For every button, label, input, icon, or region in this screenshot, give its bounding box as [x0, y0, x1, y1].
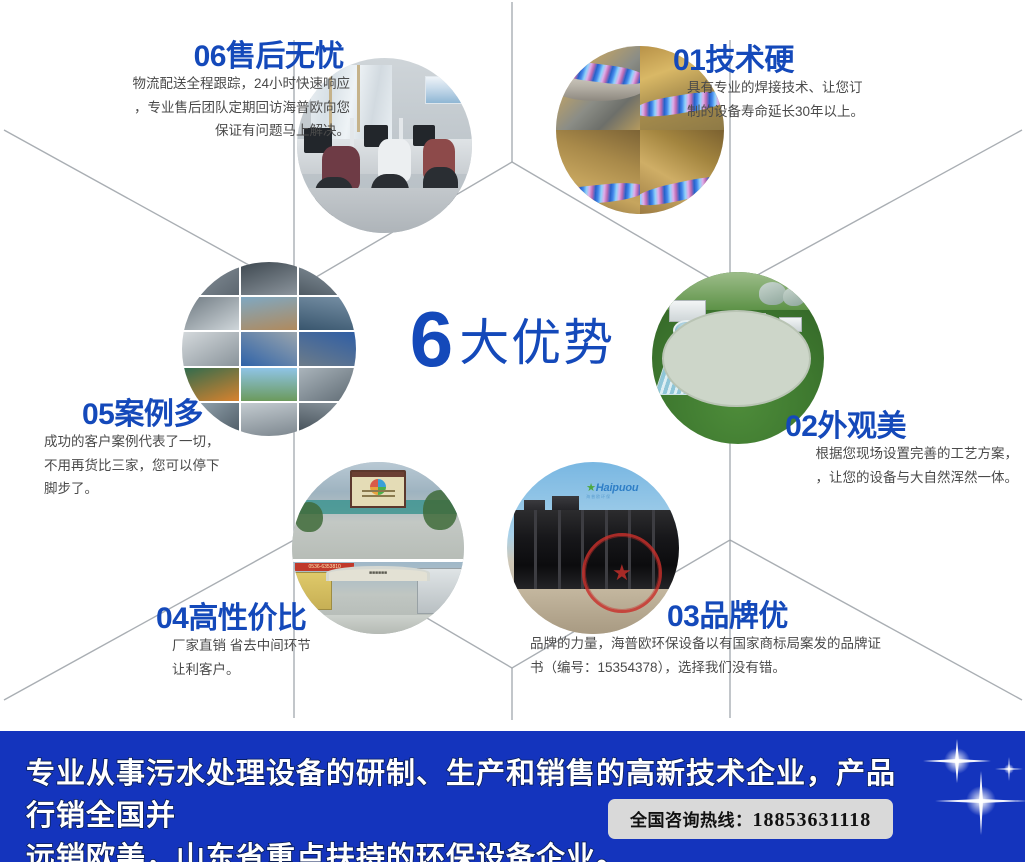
feature-02-body: 根据您现场设置完善的工艺方案， ，让您的设备与大自然浑然一体。 — [700, 442, 1018, 489]
feature-01-title: 01技术硬 — [673, 46, 1013, 76]
feature-05-title: 05案例多 — [82, 400, 330, 430]
feature-05-body: 成功的客户案例代表了一切， 不用再货比三家，您可以停下 脚步了。 — [44, 430, 330, 501]
feature-05: 05案例多 成功的客户案例代表了一切， 不用再货比三家，您可以停下 脚步了。 — [30, 400, 330, 501]
bottom-banner: 专业从事污水处理设备的研制、生产和销售的高新技术企业，产品行销全国并 远销欧美，… — [0, 731, 1025, 862]
feature-02: 02外观美 根据您现场设置完善的工艺方案， ，让您的设备与大自然浑然一体。 — [700, 412, 1018, 489]
feature-01-body: 具有专业的焊接技术、让您订 制的设备寿命延长30年以上。 — [687, 76, 1013, 123]
feature-01: 01技术硬 具有专业的焊接技术、让您订 制的设备寿命延长30年以上。 — [673, 46, 1013, 123]
feature-03: 03品牌优 品牌的力量，海普欧环保设备以有国家商标局案发的品牌证 书（编号：15… — [530, 602, 910, 679]
feature-06: 06售后无忧 物流配送全程跟踪，24小时快速响应 ，专业售后团队定期回访海普欧向… — [10, 42, 350, 143]
feature-04: 04高性价比 厂家直销 省去中间环节 让利客户。 — [120, 604, 420, 681]
feature-04-title: 04高性价比 — [156, 604, 420, 634]
feature-03-body: 品牌的力量，海普欧环保设备以有国家商标局案发的品牌证 书（编号：15354378… — [530, 632, 910, 679]
feature-04-body: 厂家直销 省去中间环节 让利客户。 — [172, 634, 420, 681]
feature-03-title: 03品牌优 — [667, 602, 910, 632]
hotline-label: 全国咨询热线： — [630, 811, 753, 830]
center-title: 6大优势 — [0, 300, 1025, 378]
hotline-number: 18853631118 — [753, 809, 872, 831]
hotline-box: 全国咨询热线：18853631118 — [608, 799, 893, 839]
brand-logo: ★Haipuou 海普欧环保 — [586, 481, 638, 500]
advantages-infographic: ★Haipuou 海普欧环保 — [0, 0, 1025, 862]
center-title-number: 6 — [410, 295, 451, 383]
feature-06-title: 06售后无忧 — [10, 42, 344, 72]
feature-02-title: 02外观美 — [700, 412, 906, 442]
feature-06-body: 物流配送全程跟踪，24小时快速响应 ，专业售后团队定期回访海普欧向您 保证有问题… — [10, 72, 350, 143]
center-title-suffix: 大优势 — [459, 315, 615, 371]
